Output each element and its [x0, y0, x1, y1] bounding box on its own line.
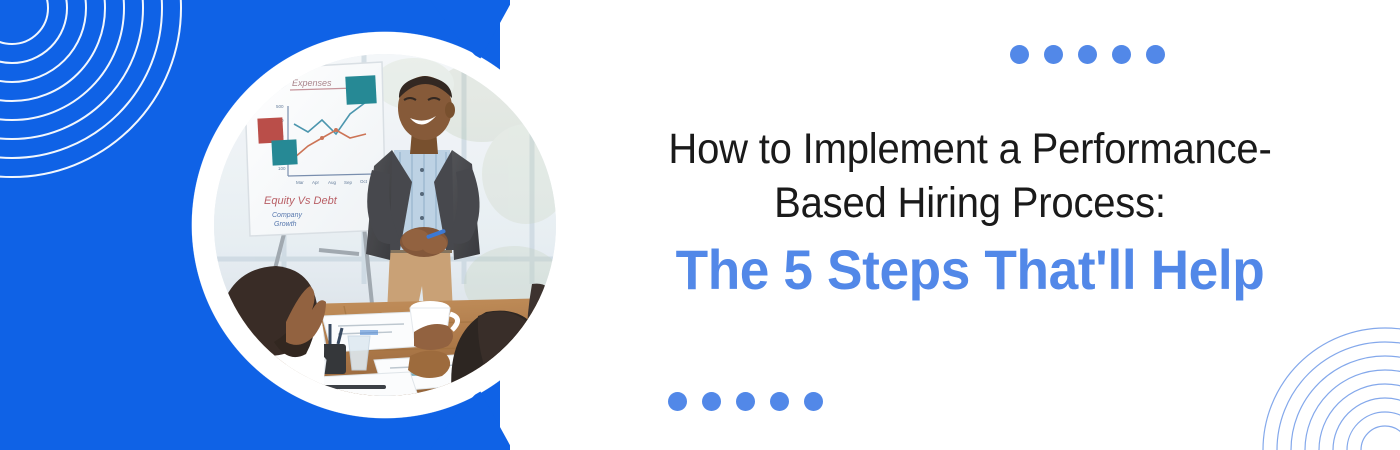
hero-photo: Expenses 500 400 300 200 100 Mar Apr Aug…	[214, 54, 556, 396]
decor-dot	[1112, 45, 1131, 64]
decor-dot	[804, 392, 823, 411]
banner-root: Expenses 500 400 300 200 100 Mar Apr Aug…	[0, 0, 1400, 450]
decor-dot	[770, 392, 789, 411]
decor-dot	[1044, 45, 1063, 64]
headline-emphasis: The 5 Steps That'll Help	[619, 234, 1322, 306]
headline-line-2: Based Hiring Process:	[626, 176, 1314, 230]
decor-dot	[702, 392, 721, 411]
decor-dot	[668, 392, 687, 411]
headline-line-1: How to Implement a Performance-	[626, 122, 1314, 176]
decor-dot	[1010, 45, 1029, 64]
concentric-arcs-icon-bottom-right	[1250, 310, 1400, 450]
decor-dot	[1078, 45, 1097, 64]
decor-dot	[1146, 45, 1165, 64]
dot-row-bottom	[668, 392, 823, 411]
decor-dot	[736, 392, 755, 411]
headline-block: How to Implement a Performance- Based Hi…	[600, 122, 1340, 306]
dot-row-top	[1010, 45, 1165, 64]
